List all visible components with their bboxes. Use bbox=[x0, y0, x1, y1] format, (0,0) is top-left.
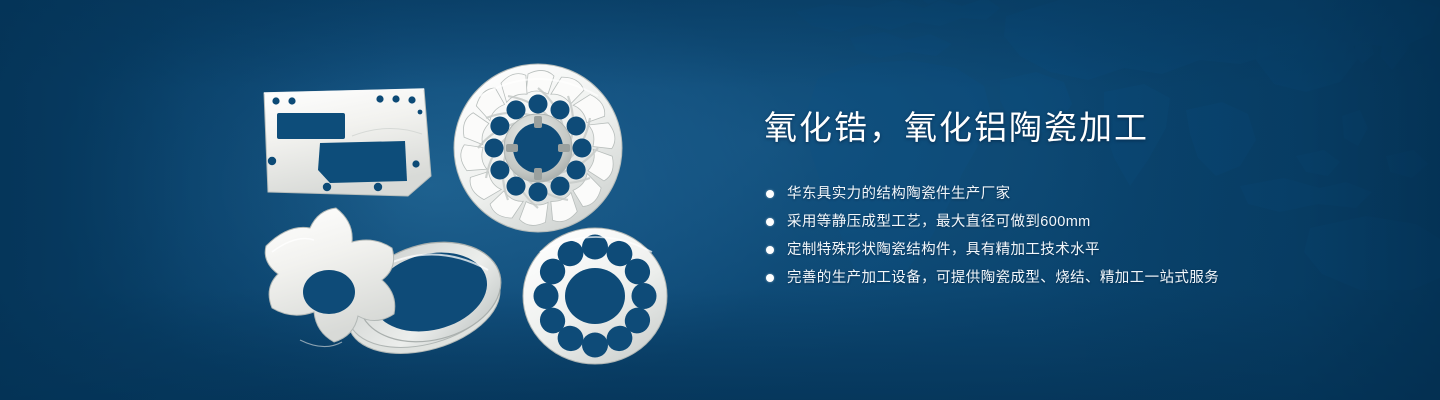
banner-copy: 氧化锆，氧化铝陶瓷加工 华东具实力的结构陶瓷件生产厂家 采用等静压成型工艺，最大… bbox=[764, 108, 1384, 289]
promo-banner: 氧化锆，氧化铝陶瓷加工 华东具实力的结构陶瓷件生产厂家 采用等静压成型工艺，最大… bbox=[0, 0, 1440, 400]
dot-icon bbox=[766, 246, 774, 254]
dot-icon bbox=[766, 218, 774, 226]
list-item-label: 华东具实力的结构陶瓷件生产厂家 bbox=[787, 183, 1011, 205]
list-item: 完善的生产加工设备，可提供陶瓷成型、烧结、精加工一站式服务 bbox=[766, 267, 1384, 289]
list-item-label: 定制特殊形状陶瓷结构件，具有精加工技术水平 bbox=[787, 239, 1100, 261]
list-item: 采用等静压成型工艺，最大直径可做到600mm bbox=[766, 211, 1384, 233]
product-image-cluster bbox=[0, 0, 720, 400]
page-title: 氧化锆，氧化铝陶瓷加工 bbox=[764, 108, 1384, 149]
list-item: 定制特殊形状陶瓷结构件，具有精加工技术水平 bbox=[766, 239, 1384, 261]
list-item: 华东具实力的结构陶瓷件生产厂家 bbox=[766, 183, 1384, 205]
ceramic-plate-photo bbox=[264, 89, 431, 196]
feature-list: 华东具实力的结构陶瓷件生产厂家 采用等静压成型工艺，最大直径可做到600mm 定… bbox=[766, 183, 1384, 289]
list-item-label: 采用等静压成型工艺，最大直径可做到600mm bbox=[787, 211, 1091, 233]
dot-icon bbox=[766, 274, 774, 282]
dot-icon bbox=[766, 190, 774, 198]
list-item-label: 完善的生产加工设备，可提供陶瓷成型、烧结、精加工一站式服务 bbox=[787, 267, 1219, 289]
ceramic-perforated-disc-photo bbox=[523, 228, 667, 364]
ceramic-impeller-photo bbox=[454, 64, 622, 232]
